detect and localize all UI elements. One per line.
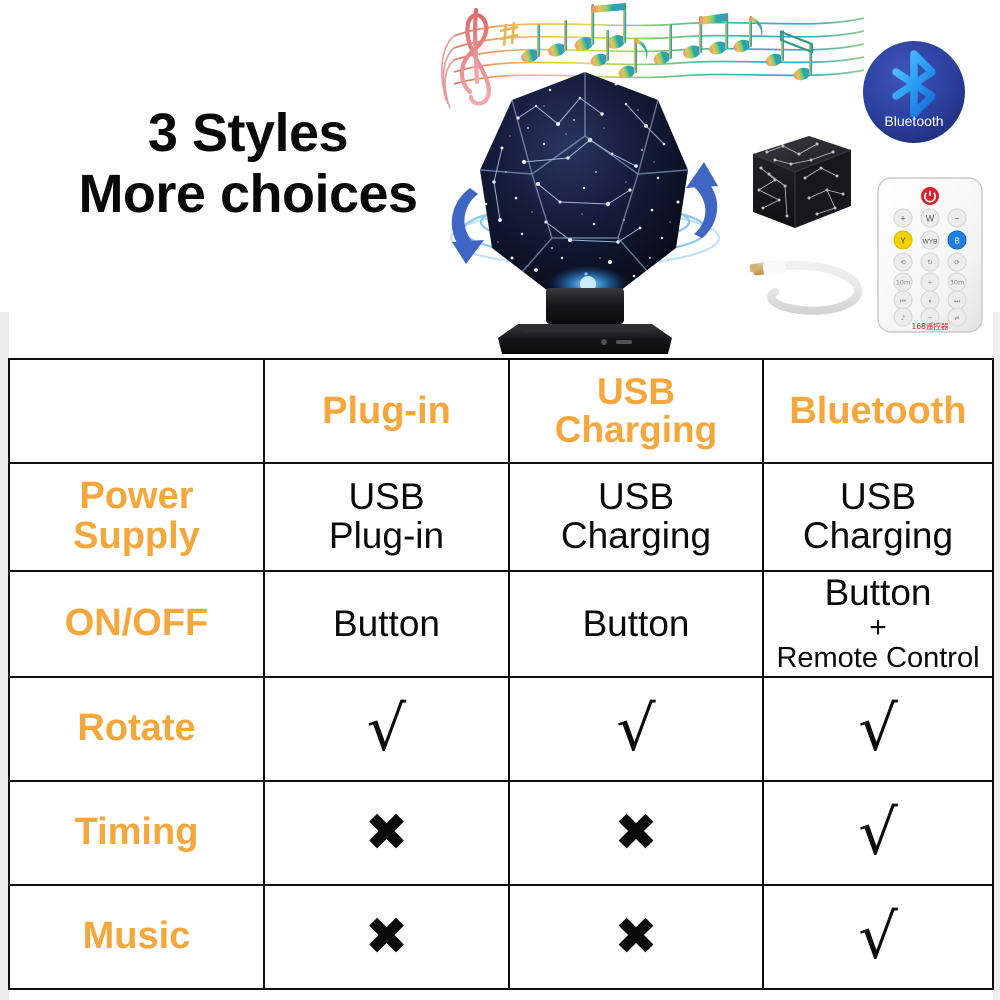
cell-power-supply-bluetooth-line2: Charging [768,517,988,556]
cell-timing-plug-in: ✖ [264,781,509,885]
cell-music-plug-in: ✖ [264,885,509,989]
svg-text:⏮: ⏮ [900,297,906,305]
table-row-on-off: ON/OFF Button Button Button + [9,571,993,677]
cell-power-supply-plug-in: USB Plug-in [264,463,509,571]
cell-on-off-plug-in: Button [264,571,509,677]
cell-on-off-bluetooth-plus: + [768,613,988,643]
cross-icon: ✖ [614,807,658,859]
cell-timing-bluetooth: √ [763,781,993,885]
svg-text:W: W [926,214,935,224]
gift-box-icon [735,128,855,238]
hero-section: 3 Styles More choices [0,0,1000,356]
column-header-usb-charging-line1: USB [514,373,758,411]
cell-power-supply-plug-in-line1: USB [269,478,504,517]
check-icon: √ [858,698,898,760]
table-header-row: Plug-in USB Charging Bluetooth [9,359,993,463]
row-header-power-supply-line2: Supply [14,517,259,557]
svg-text:⏭: ⏭ [954,297,960,305]
check-icon: √ [858,906,898,968]
row-header-on-off: ON/OFF [9,571,264,677]
cell-on-off-bluetooth-line1: Button [768,574,988,613]
row-header-rotate-label: Rotate [77,707,195,749]
page-title: 3 Styles More choices [48,103,448,225]
row-header-rotate: Rotate [9,677,264,781]
check-icon: √ [616,698,656,760]
headline-line-2: More choices [48,164,448,225]
check-icon: √ [858,802,898,864]
star-projector-lamp-image [440,62,730,356]
remote-model-label: 168遥控器 [912,321,949,331]
column-header-usb-charging: USB Charging [509,359,763,463]
table-row-music: Music ✖ ✖ √ [9,885,993,989]
bluetooth-icon: Bluetooth [860,38,968,146]
table-row-timing: Timing ✖ ✖ √ [9,781,993,885]
row-header-power-supply: Power Supply [9,463,264,571]
column-header-bluetooth-label: Bluetooth [789,390,966,432]
svg-text:⇄: ⇄ [954,314,960,322]
cell-music-bluetooth: √ [763,885,993,989]
row-header-timing: Timing [9,781,264,885]
svg-text:−: − [927,314,932,322]
svg-text:⏸: ⏸ [928,297,931,305]
cell-on-off-bluetooth-line3: Remote Control [768,643,988,674]
headline-line-1: 3 Styles [48,103,448,164]
svg-text:+: + [927,279,932,287]
svg-text:10m: 10m [896,279,911,287]
svg-text:WYB: WYB [922,239,938,246]
svg-text:⟲: ⟲ [900,259,906,267]
svg-text:30m: 30m [950,279,965,287]
cell-power-supply-bluetooth-line1: USB [768,478,988,517]
table-row-power-supply: Power Supply USB Plug-in USB Charging [9,463,993,571]
svg-text:Y: Y [900,237,906,246]
column-header-plug-in-label: Plug-in [322,390,451,432]
table-row-rotate: Rotate √ √ √ [9,677,993,781]
right-edge-band [993,312,1000,1000]
cell-on-off-usb-charging: Button [509,571,763,677]
cell-power-supply-plug-in-line2: Plug-in [269,517,504,556]
comparison-table: Plug-in USB Charging Bluetooth [8,358,994,990]
row-header-power-supply-line1: Power [14,477,259,517]
svg-text:B: B [954,237,959,246]
cross-icon: ✖ [365,911,409,963]
column-header-plug-in: Plug-in [264,359,509,463]
table-corner-cell [9,359,264,463]
column-header-usb-charging-line2: Charging [514,411,758,449]
svg-text:−: − [954,214,959,224]
cell-power-supply-usb-charging-line2: Charging [514,517,758,556]
check-icon: √ [367,698,407,760]
cell-on-off-usb-charging-label: Button [514,605,758,644]
cell-on-off-plug-in-label: Button [269,605,504,644]
svg-text:♪: ♪ [901,314,905,322]
column-header-bluetooth: Bluetooth [763,359,993,463]
remote-control-icon: + W − Y WYB B [874,175,986,335]
cell-rotate-plug-in: √ [264,677,509,781]
cell-timing-usb-charging: ✖ [509,781,763,885]
row-header-music-label: Music [83,915,191,957]
cell-on-off-bluetooth: Button + Remote Control [763,571,993,677]
row-header-music: Music [9,885,264,989]
cell-power-supply-usb-charging-line1: USB [514,478,758,517]
cell-power-supply-usb-charging: USB Charging [509,463,763,571]
svg-text:+: + [900,214,905,224]
row-header-timing-label: Timing [75,811,199,853]
svg-text:↻: ↻ [927,259,932,267]
cross-icon: ✖ [614,911,658,963]
cell-power-supply-bluetooth: USB Charging [763,463,993,571]
svg-text:⟳: ⟳ [954,259,960,267]
cell-rotate-usb-charging: √ [509,677,763,781]
usb-cable-icon [745,248,875,322]
row-header-on-off-label: ON/OFF [65,602,209,644]
infographic-page: 3 Styles More choices [0,0,1000,1000]
cell-music-usb-charging: ✖ [509,885,763,989]
bluetooth-label: Bluetooth [884,113,943,129]
cell-rotate-bluetooth: √ [763,677,993,781]
cross-icon: ✖ [365,807,409,859]
